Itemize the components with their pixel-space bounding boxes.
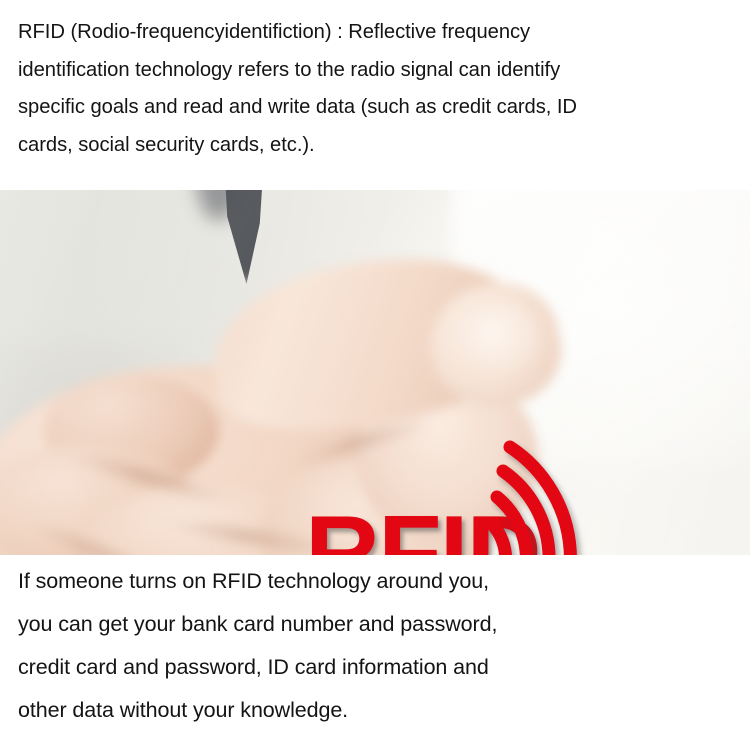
rfid-logo: RFID xyxy=(305,443,675,555)
intro-line-3: specific goals and read and write data (… xyxy=(18,89,736,127)
intro-paragraph: RFID (Rodio-frequencyidentifiction) : Re… xyxy=(0,14,750,190)
warning-line-1: If someone turns on RFID technology arou… xyxy=(18,560,736,603)
intro-line-4: cards, social security cards, etc.). xyxy=(18,127,736,165)
rfid-hand-photo: RFID xyxy=(0,190,750,555)
intro-line-1: RFID (Rodio-frequencyidentifiction) : Re… xyxy=(18,14,736,52)
intro-line-2: identification technology refers to the … xyxy=(18,52,736,90)
rfid-signal-waves-icon xyxy=(483,439,683,555)
warning-line-2: you can get your bank card number and pa… xyxy=(18,603,736,646)
warning-paragraph: If someone turns on RFID technology arou… xyxy=(0,560,750,750)
warning-line-4: other data without your knowledge. xyxy=(18,689,736,732)
warning-line-3: credit card and password, ID card inform… xyxy=(18,646,736,689)
product-description-page: RFID (Rodio-frequencyidentifiction) : Re… xyxy=(0,0,750,750)
